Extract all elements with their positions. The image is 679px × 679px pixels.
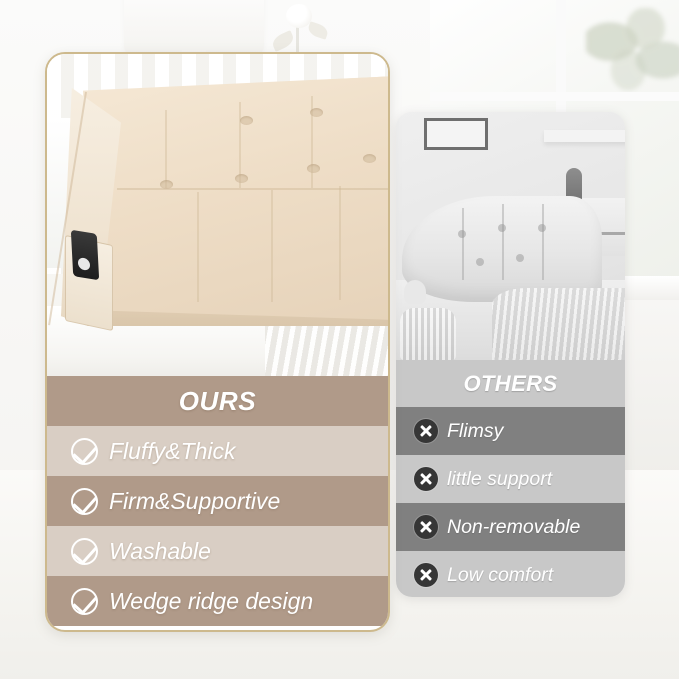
ours-feature-label: Washable: [109, 538, 211, 565]
others-pillow-seam: [542, 204, 544, 280]
ours-feature-list: OURS Fluffy&Thick Firm&Supportive Washab…: [47, 376, 388, 626]
others-pillow-seam: [462, 208, 464, 280]
check-circle-icon: [71, 588, 98, 615]
x-circle-icon: [414, 467, 438, 491]
others-pillow-tuft: [476, 258, 484, 266]
others-pillow-tuft: [516, 254, 524, 262]
wedge-pillow-vertical-seam: [165, 110, 167, 188]
wedge-pillow-tuft: [307, 164, 320, 173]
others-feature-label: Low comfort: [447, 564, 553, 587]
lamp-shade: [124, 0, 264, 56]
others-pillow-tuft: [538, 224, 546, 232]
ours-feature-label: Firm&Supportive: [109, 488, 280, 515]
others-pillow-seam: [502, 204, 504, 280]
others-feature-row-3: Non-removable: [396, 503, 625, 551]
ours-comparison-card: OURS Fluffy&Thick Firm&Supportive Washab…: [45, 52, 390, 632]
wedge-pillow-front-face: [83, 76, 388, 320]
window-frame-horizontal: [430, 92, 679, 101]
comparison-graphic: OTHERS Flimsy little support Non-removab…: [0, 0, 679, 679]
ours-feature-row-4: Wedge ridge design: [47, 576, 388, 626]
ours-feature-label: Wedge ridge design: [109, 588, 313, 615]
ours-header-band: OURS: [47, 376, 388, 426]
check-circle-icon: [71, 438, 98, 465]
others-feature-list: OTHERS Flimsy little support Non-removab…: [396, 360, 625, 597]
others-header-band: OTHERS: [396, 360, 625, 407]
flower-leaf-right: [306, 21, 329, 40]
others-pillow-tuft: [498, 224, 506, 232]
others-feature-label: Non-removable: [447, 516, 580, 539]
ours-header-label: OURS: [179, 386, 257, 417]
x-circle-icon: [414, 515, 438, 539]
others-feature-row-2: little support: [396, 455, 625, 503]
ours-product-photo: [47, 54, 388, 376]
others-pillow-tuft: [458, 230, 466, 238]
others-feature-row-4: Low comfort: [396, 551, 625, 597]
flower-bloom: [286, 4, 312, 28]
wedge-pillow-tuft: [310, 108, 323, 117]
ours-feature-label: Fluffy&Thick: [109, 438, 236, 465]
others-feature-label: Flimsy: [447, 420, 503, 443]
wedge-pillow-horizontal-seam: [117, 188, 388, 190]
check-circle-icon: [71, 488, 98, 515]
wedge-pillow-tuft: [363, 154, 376, 163]
others-photo-blanket: [492, 288, 625, 360]
others-feature-row-1: Flimsy: [396, 407, 625, 455]
others-header-label: OTHERS: [463, 371, 557, 397]
wedge-pillow-vertical-seam: [271, 190, 273, 302]
wedge-pillow-tuft: [160, 180, 173, 189]
background-foliage: [586, 8, 679, 92]
ours-feature-row-3: Washable: [47, 526, 388, 576]
flower-leaf-left: [270, 30, 296, 52]
wedge-pillow-vertical-seam: [339, 186, 341, 300]
wedge-pillow-vertical-seam: [197, 192, 199, 302]
wedge-pillow-tuft: [240, 116, 253, 125]
others-photo-shelf: [544, 130, 625, 142]
others-photo-table-lamp: [404, 280, 426, 304]
others-photo-stool: [400, 308, 456, 360]
x-circle-icon: [414, 419, 438, 443]
phone-in-pocket: [71, 230, 99, 281]
others-comparison-card: OTHERS Flimsy little support Non-removab…: [396, 112, 625, 597]
ours-feature-row-1: Fluffy&Thick: [47, 426, 388, 476]
x-circle-icon: [414, 563, 438, 587]
wedge-pillow-tuft: [235, 174, 248, 183]
others-photo-picture-frame: [424, 118, 488, 150]
check-circle-icon: [71, 538, 98, 565]
others-product-photo: [396, 112, 625, 360]
others-feature-label: little support: [447, 468, 552, 491]
ours-feature-row-2: Firm&Supportive: [47, 476, 388, 526]
